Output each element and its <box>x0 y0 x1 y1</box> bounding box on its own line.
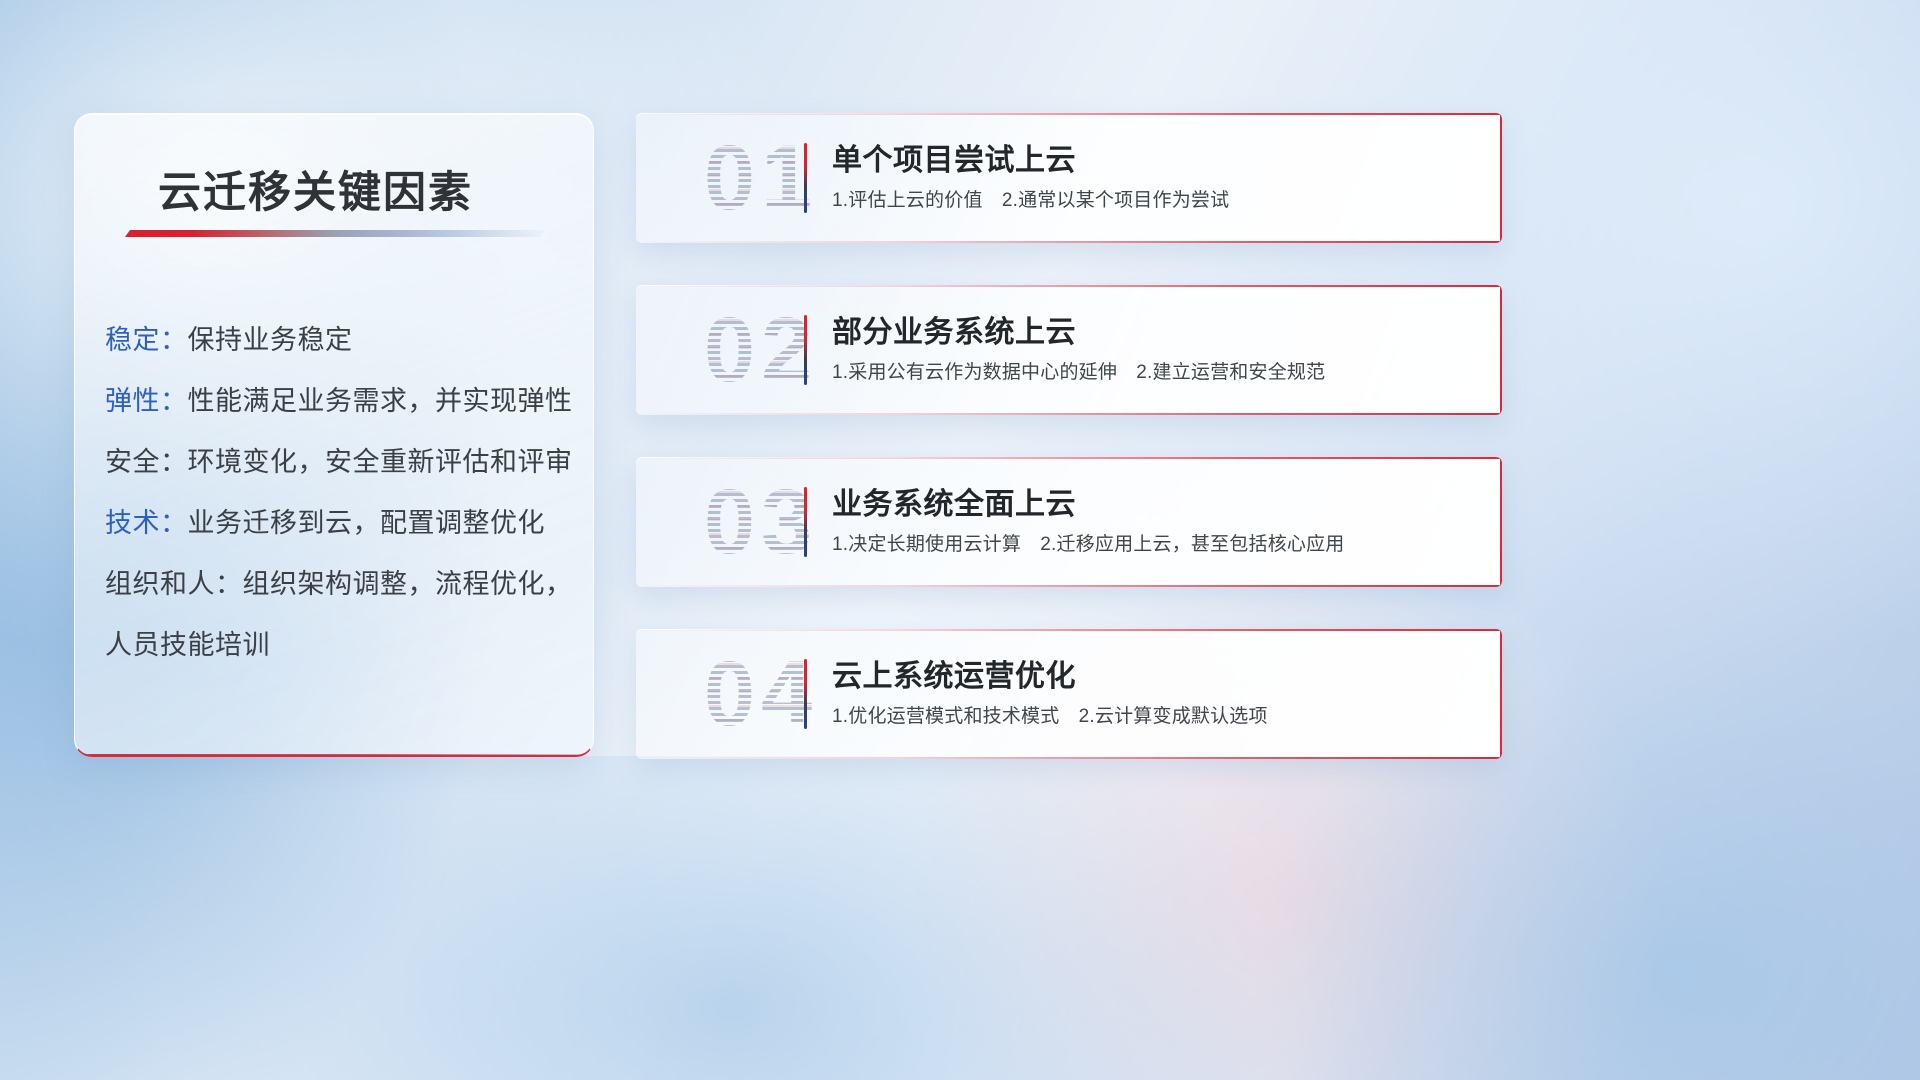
step-divider-accent <box>804 487 807 557</box>
step-number-red-overlay: 01 <box>666 119 856 237</box>
step-right-edge-accent <box>1500 457 1502 587</box>
factor-text: 人员技能培训 <box>105 630 270 660</box>
factor-label: 技术： <box>105 508 188 538</box>
factor-label: 安全： <box>105 447 188 477</box>
title-underline-accent <box>125 230 545 237</box>
step-description: 1.采用公有云作为数据中心的延伸 2.建立运营和安全规范 <box>832 357 1325 384</box>
step-right-edge-accent <box>1500 629 1502 759</box>
step-right-edge-accent <box>1500 113 1502 243</box>
page-title: 云迁移关键因素 <box>158 158 473 220</box>
factor-text: 环境变化，安全重新评估和评审 <box>188 447 573 477</box>
step-number-red-overlay: 03 <box>666 463 856 581</box>
factor-row-continuation: 人员技能培训 <box>105 615 573 676</box>
step-card-03[interactable]: 03 03 业务系统全面上云 1.决定长期使用云计算 2.迁移应用上云，甚至包括… <box>636 457 1502 587</box>
step-right-edge-accent <box>1500 285 1502 415</box>
factor-row: 弹性：性能满足业务需求，并实现弹性 <box>105 371 573 432</box>
factor-text: 性能满足业务需求，并实现弹性 <box>188 386 573 416</box>
factor-row: 组织和人：组织架构调整，流程优化， <box>105 554 573 615</box>
step-description: 1.决定长期使用云计算 2.迁移应用上云，甚至包括核心应用 <box>832 529 1345 556</box>
factor-row: 技术：业务迁移到云，配置调整优化 <box>105 493 573 554</box>
step-title: 云上系统运营优化 <box>832 651 1076 695</box>
factor-row: 安全：环境变化，安全重新评估和评审 <box>105 432 573 493</box>
key-factors-card: 云迁移关键因素 稳定：保持业务稳定 弹性：性能满足业务需求，并实现弹性 安全：环… <box>74 113 594 757</box>
step-card-04[interactable]: 04 04 云上系统运营优化 1.优化运营模式和技术模式 2.云计算变成默认选项 <box>636 629 1502 759</box>
step-title: 业务系统全面上云 <box>832 479 1076 523</box>
step-divider-accent <box>804 659 807 729</box>
factor-label: 稳定： <box>105 325 188 355</box>
slide-stage: 云迁移关键因素 稳定：保持业务稳定 弹性：性能满足业务需求，并实现弹性 安全：环… <box>0 0 1920 1080</box>
step-description: 1.优化运营模式和技术模式 2.云计算变成默认选项 <box>832 701 1268 728</box>
step-title: 单个项目尝试上云 <box>832 135 1076 179</box>
step-title: 部分业务系统上云 <box>832 307 1076 351</box>
step-description: 1.评估上云的价值 2.通常以某个项目作为尝试 <box>832 185 1229 212</box>
step-divider-accent <box>804 315 807 385</box>
step-card-01[interactable]: 01 01 单个项目尝试上云 1.评估上云的价值 2.通常以某个项目作为尝试 <box>636 113 1502 243</box>
step-number-red-overlay: 04 <box>666 635 856 753</box>
step-divider-accent <box>804 143 807 213</box>
factor-text: 业务迁移到云，配置调整优化 <box>188 508 546 538</box>
factor-text: 保持业务稳定 <box>188 325 353 355</box>
step-card-02[interactable]: 02 02 部分业务系统上云 1.采用公有云作为数据中心的延伸 2.建立运营和安… <box>636 285 1502 415</box>
factor-text: 组织架构调整，流程优化， <box>243 569 573 599</box>
step-number-red-overlay: 02 <box>666 291 856 409</box>
key-factors-list: 稳定：保持业务稳定 弹性：性能满足业务需求，并实现弹性 安全：环境变化，安全重新… <box>105 310 573 676</box>
factor-label: 弹性： <box>105 386 188 416</box>
factor-row: 稳定：保持业务稳定 <box>105 310 573 371</box>
factor-label: 组织和人： <box>105 569 243 599</box>
